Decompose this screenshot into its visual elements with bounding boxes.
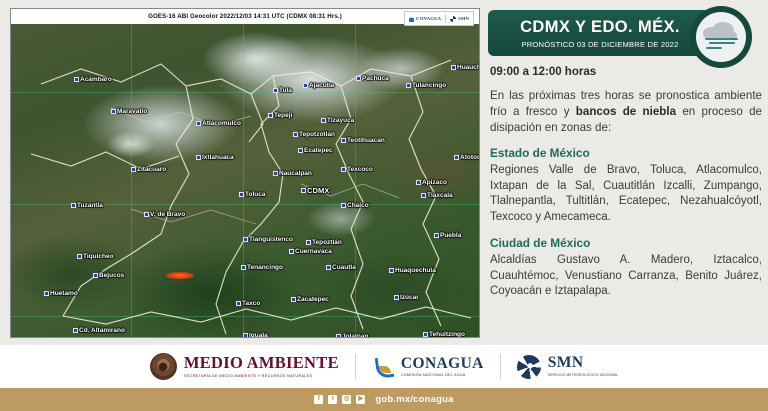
satellite-map-panel[interactable]: GOES-16 ABI Geocolor 2022/12/03 14:31 UT…	[10, 8, 480, 338]
city-marker-icon	[341, 138, 346, 143]
city-label: Zitácuaro	[131, 166, 166, 173]
infographic-page: GOES-16 ABI Geocolor 2022/12/03 14:31 UT…	[0, 0, 768, 411]
city-name: Tiquicheo	[83, 253, 114, 260]
city-label: Iguala	[243, 332, 268, 338]
city-marker-icon	[416, 180, 421, 185]
logo-divider	[500, 354, 501, 380]
city-marker-icon	[423, 332, 428, 337]
city-name: Puebla	[440, 232, 461, 239]
city-label: Tepeji	[268, 112, 292, 119]
city-marker-icon	[74, 77, 79, 82]
city-name: Pachuca	[362, 75, 389, 82]
smn-swirl-icon	[450, 16, 456, 22]
city-marker-icon	[273, 171, 278, 176]
medio-ambiente-title: MEDIO AMBIENTE	[184, 355, 339, 372]
medio-ambiente-subtitle: SECRETARÍA DE MEDIO AMBIENTE Y RECURSOS …	[184, 374, 339, 378]
city-name: Apizaco	[422, 179, 447, 186]
city-marker-icon	[298, 148, 303, 153]
forecast-banner: CDMX Y EDO. MÉX. PRONÓSTICO 03 DE DICIEM…	[488, 10, 712, 56]
city-name: Huaquechula	[395, 267, 436, 274]
city-marker-icon	[273, 88, 278, 93]
city-marker-icon	[389, 268, 394, 273]
weather-icon-badge	[690, 6, 752, 68]
medio-ambiente-text: MEDIO AMBIENTE SECRETARÍA DE MEDIO AMBIE…	[184, 355, 339, 378]
city-marker-icon	[111, 109, 116, 114]
city-label: Huetamo	[44, 290, 78, 297]
city-label: Zacatepec	[291, 296, 329, 303]
city-marker-icon	[289, 249, 294, 254]
city-marker-icon	[268, 113, 273, 118]
city-marker-icon	[326, 265, 331, 270]
city-label: Taxco	[236, 300, 260, 307]
city-name: Taxco	[242, 300, 260, 307]
city-name: Acámbaro	[80, 76, 112, 83]
city-name: Zacatepec	[297, 296, 329, 303]
watermark-conagua-label: CONAGUA	[416, 16, 441, 21]
city-marker-icon	[196, 121, 201, 126]
city-name: Huauchinango	[457, 64, 480, 71]
city-label: Huaquechula	[389, 267, 436, 274]
city-label: Tehuitzingo	[423, 331, 465, 338]
city-label: V. de Bravo	[144, 211, 185, 218]
city-name: Huetamo	[50, 290, 78, 297]
city-marker-icon	[239, 192, 244, 197]
city-label: Tiquicheo	[77, 253, 114, 260]
conagua-title: CONAGUA	[401, 356, 484, 372]
watermark-smn-label: SMN	[458, 16, 469, 21]
city-name: Teotihuacan	[347, 137, 385, 144]
satellite-imagery: AcámbaroMaravatíoAtlacomulcoIxtlahuacaZi…	[11, 24, 479, 338]
city-name: Zitácuaro	[137, 166, 166, 173]
city-marker-icon	[243, 237, 248, 242]
section-body-edomex: Regiones Valle de Bravo, Toluca, Atlacom…	[490, 163, 762, 226]
youtube-icon[interactable]: ▶	[356, 395, 365, 404]
city-label: Maravatío	[111, 108, 147, 115]
city-label: Tizayuca	[321, 117, 354, 124]
graticule-line	[11, 316, 479, 317]
watermark-divider	[445, 14, 446, 23]
graticule-line	[11, 92, 479, 93]
city-name: V. de Bravo	[150, 211, 185, 218]
city-name: Cuautla	[332, 264, 356, 271]
state-borders	[11, 24, 480, 338]
section-ciudad-de-mexico: Ciudad de México Alcaldías Gustavo A. Ma…	[490, 236, 762, 300]
city-marker-icon	[394, 295, 399, 300]
city-marker-icon	[236, 301, 241, 306]
city-label: Cuernavaca	[289, 248, 332, 255]
time-range-label: 09:00 a 12:00 horas	[490, 66, 596, 78]
city-name: Tepotzotlan	[299, 131, 335, 138]
gobmx-bar: ft◎▶ gob.mx/conagua	[0, 388, 768, 411]
social-icons: ft◎▶	[314, 395, 365, 404]
city-name: Tehuitzingo	[429, 331, 465, 338]
city-marker-icon	[321, 118, 326, 123]
city-label: Pachuca	[356, 75, 389, 82]
mexican-eagle-seal-icon	[150, 353, 177, 380]
city-name: Tepoztlán	[312, 239, 342, 246]
city-label: Toluca	[239, 191, 265, 198]
city-name: Izúcar	[400, 294, 419, 301]
city-label: Tepoztlán	[306, 239, 342, 246]
city-marker-icon	[131, 167, 136, 172]
city-label: Apizaco	[416, 179, 447, 186]
forecast-date: PRONÓSTICO 03 DE DICIEMBRE DE 2022	[521, 40, 678, 49]
city-label: Puebla	[434, 232, 461, 239]
gobmx-url[interactable]: gob.mx/conagua	[375, 394, 453, 405]
section-estado-de-mexico: Estado de México Regiones Valle de Bravo…	[490, 146, 762, 226]
city-marker-icon	[196, 155, 201, 160]
city-label: Ajacuba	[303, 82, 334, 89]
city-name: Tuzantla	[77, 202, 103, 209]
logo-conagua: CONAGUA COMISIÓN NACIONAL DEL AGUA	[372, 355, 484, 379]
city-label: Atotonilco	[454, 154, 480, 161]
city-label: Tuzantla	[71, 202, 103, 209]
logo-smn: SMN SERVICIO METEOROLÓGICO NACIONAL	[517, 355, 618, 379]
city-label: Texcoco	[341, 166, 373, 173]
conagua-text: CONAGUA COMISIÓN NACIONAL DEL AGUA	[401, 356, 484, 378]
city-marker-icon	[241, 265, 246, 270]
city-marker-icon	[356, 76, 361, 81]
city-name: Tizayuca	[327, 117, 354, 124]
city-label: Tenancingo	[241, 264, 283, 271]
city-label: Acámbaro	[74, 76, 112, 83]
graticule-line	[131, 24, 132, 338]
city-name: Texcoco	[347, 166, 373, 173]
city-marker-icon	[451, 65, 456, 70]
smn-subtitle: SERVICIO METEOROLÓGICO NACIONAL	[548, 373, 618, 377]
city-name: Maravatío	[117, 108, 147, 115]
forecast-intro: En las próximas tres horas se pronostica…	[490, 88, 762, 136]
city-name: Atotonilco	[460, 154, 480, 161]
city-name: Tlaxcala	[427, 192, 453, 199]
smn-swirl-icon	[517, 355, 541, 379]
city-name: Ajacuba	[309, 82, 334, 89]
city-name: Bejucos	[99, 272, 124, 279]
city-name: Tianguistenco	[249, 236, 293, 243]
graticule-line	[355, 24, 356, 338]
city-marker-icon	[306, 240, 311, 245]
forecast-column: CDMX Y EDO. MÉX. PRONÓSTICO 03 DE DICIEM…	[488, 0, 768, 340]
watermark-conagua: CONAGUA	[409, 16, 441, 22]
logo-medio-ambiente: MEDIO AMBIENTE SECRETARÍA DE MEDIO AMBIE…	[150, 353, 339, 380]
city-label: Tepotzotlan	[293, 131, 335, 138]
smn-title: SMN	[548, 355, 618, 371]
city-label: Tlaxcala	[421, 192, 453, 199]
city-name: Tepeji	[274, 112, 292, 119]
city-marker-icon	[77, 254, 82, 259]
city-name: Iguala	[249, 332, 268, 338]
city-marker-icon	[293, 132, 298, 137]
section-title-edomex: Estado de México	[490, 146, 762, 160]
smn-text: SMN SERVICIO METEOROLÓGICO NACIONAL	[548, 355, 618, 377]
city-marker-icon	[44, 291, 49, 296]
city-marker-icon	[73, 328, 78, 333]
city-label: Ixtlahuaca	[196, 154, 234, 161]
city-name: Toluca	[245, 191, 265, 198]
section-title-cdmx: Ciudad de México	[490, 236, 762, 250]
city-name: Ixtlahuaca	[202, 154, 234, 161]
graticule-line	[243, 24, 244, 338]
page-title: CDMX Y EDO. MÉX.	[520, 18, 680, 37]
city-label: Chalco	[341, 202, 369, 209]
city-label: Atlacomulco	[196, 120, 241, 127]
fog-lines-icon	[705, 38, 738, 52]
city-marker-icon	[336, 334, 341, 338]
city-marker-icon	[71, 203, 76, 208]
city-name: Cuernavaca	[295, 248, 332, 255]
city-label: Cd. Altamirano	[73, 327, 125, 334]
city-marker-icon	[421, 193, 426, 198]
city-marker-icon	[291, 297, 296, 302]
city-marker-icon	[243, 333, 248, 338]
facebook-icon[interactable]: f	[314, 395, 323, 404]
city-label: Jolalpan	[336, 333, 368, 338]
city-marker-icon	[341, 167, 346, 172]
city-label: Cuautla	[326, 264, 356, 271]
city-label: Huauchinango	[451, 64, 480, 71]
fire-hotspot	[166, 272, 194, 279]
twitter-icon[interactable]: t	[328, 395, 337, 404]
city-marker-icon	[434, 233, 439, 238]
conagua-smn-watermark: CONAGUA SMN	[404, 11, 474, 26]
logo-divider	[355, 354, 356, 380]
city-label: Teotihuacan	[341, 137, 385, 144]
city-label: Ecatepec	[298, 147, 333, 154]
city-name: Cd. Altamirano	[79, 327, 125, 334]
city-marker-icon	[341, 203, 346, 208]
water-drop-icon	[409, 16, 414, 22]
city-marker-icon	[144, 212, 149, 217]
instagram-icon[interactable]: ◎	[342, 395, 351, 404]
city-label: Bejucos	[93, 272, 124, 279]
city-label: Tulancingo	[406, 82, 446, 89]
conagua-wave-icon	[372, 355, 394, 379]
section-body-cdmx: Alcaldías Gustavo A. Madero, Iztacalco, …	[490, 253, 762, 300]
city-name: Naucalpan	[279, 170, 312, 177]
city-marker-icon	[406, 83, 411, 88]
city-name: Chalco	[347, 202, 369, 209]
satellite-header-text: GOES-16 ABI Geocolor 2022/12/03 14:31 UT…	[148, 13, 342, 20]
city-name: Atlacomulco	[202, 120, 241, 127]
city-marker-icon	[301, 188, 306, 193]
city-label: Tianguistenco	[243, 236, 293, 243]
city-label: Izúcar	[394, 294, 419, 301]
cloud-shape	[703, 22, 739, 39]
conagua-subtitle: COMISIÓN NACIONAL DEL AGUA	[401, 374, 484, 378]
city-marker-icon	[303, 83, 308, 88]
fog-cloud-icon	[696, 12, 746, 62]
intro-highlight: bancos de niebla	[576, 105, 676, 118]
watermark-smn: SMN	[450, 16, 469, 22]
city-name: Tula	[279, 87, 292, 94]
city-name: Jolalpan	[342, 333, 368, 338]
city-marker-icon	[93, 273, 98, 278]
city-name: CDMX	[307, 186, 329, 195]
footer-logo-bar: MEDIO AMBIENTE SECRETARÍA DE MEDIO AMBIE…	[0, 345, 768, 388]
city-label: Naucalpan	[273, 170, 312, 177]
city-marker-icon	[454, 155, 459, 160]
city-label: CDMX	[301, 186, 329, 195]
city-name: Tenancingo	[247, 264, 283, 271]
city-name: Tulancingo	[412, 82, 446, 89]
city-name: Ecatepec	[304, 147, 333, 154]
city-label: Tula	[273, 87, 292, 94]
